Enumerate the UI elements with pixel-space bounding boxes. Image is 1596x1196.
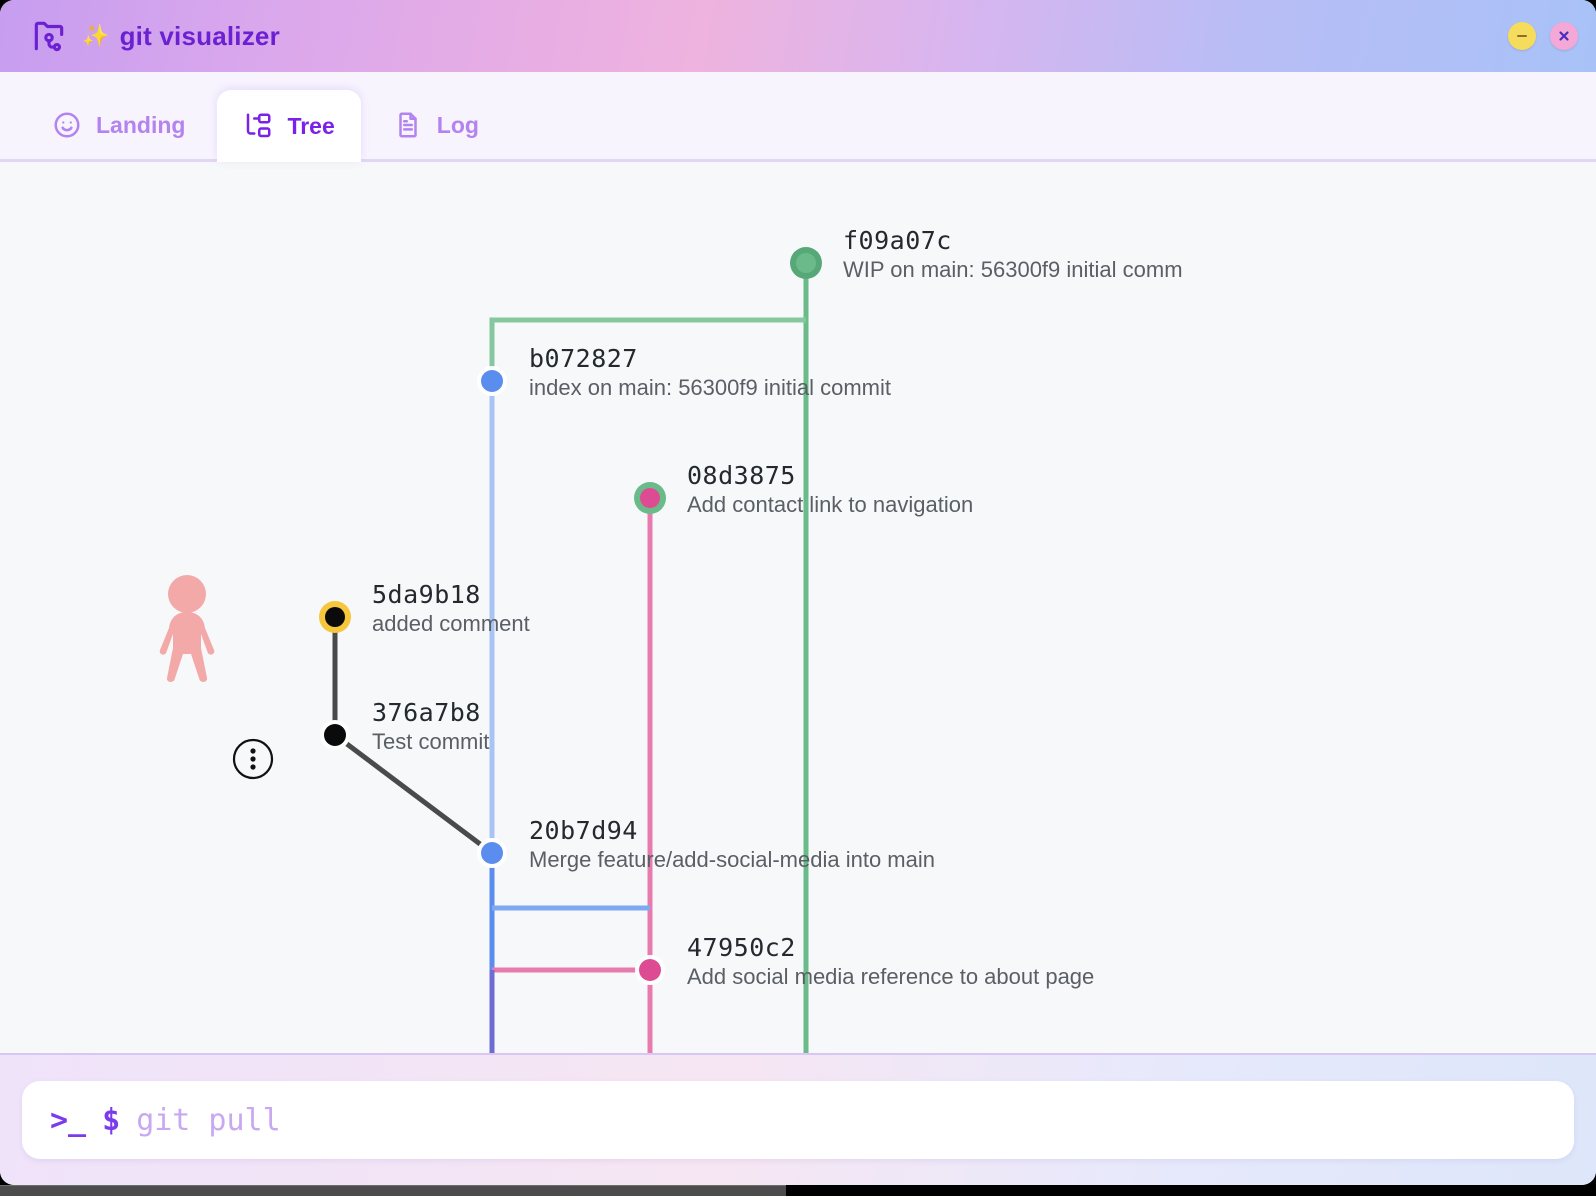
title-bar: ✨ git visualizer — [0, 0, 1596, 72]
commit-sha: b072827 — [529, 346, 891, 372]
tab-log-label: Log — [437, 112, 479, 139]
commit-message: Add social media reference to about page — [687, 961, 1094, 993]
commit-message: Merge feature/add-social-media into main — [529, 844, 935, 876]
commit-label[interactable]: f09a07cWIP on main: 56300f9 initial comm — [843, 228, 1183, 286]
git-folder-icon — [30, 17, 68, 55]
commit-sha: 47950c2 — [687, 935, 1094, 961]
commit-graph-canvas[interactable]: f09a07cWIP on main: 56300f9 initial comm… — [0, 162, 1596, 1054]
tab-landing[interactable]: Landing — [26, 94, 211, 156]
commit-label[interactable]: 20b7d94Merge feature/add-social-media in… — [529, 818, 935, 876]
commit-label-layer: f09a07cWIP on main: 56300f9 initial comm… — [0, 162, 1596, 1054]
sparkles-icon: ✨ — [82, 23, 110, 49]
commit-sha: 376a7b8 — [372, 700, 489, 726]
smiley-icon — [52, 110, 82, 140]
dollar-sign-icon: $ — [102, 1103, 120, 1138]
horizontal-scrollbar-thumb[interactable] — [0, 1185, 786, 1196]
close-button[interactable] — [1550, 22, 1578, 50]
commit-message: index on main: 56300f9 initial commit — [529, 372, 891, 404]
window-title: ✨ git visualizer — [82, 21, 280, 52]
tab-tree[interactable]: Tree — [217, 90, 360, 162]
tab-bar: Landing Tree — [0, 72, 1596, 162]
commit-label[interactable]: 5da9b18added comment — [372, 582, 530, 640]
window-controls — [1508, 22, 1578, 50]
commit-sha: 5da9b18 — [372, 582, 530, 608]
app-root: ✨ git visualizer — [0, 0, 1596, 1196]
close-icon — [1557, 29, 1571, 43]
terminal-bar: >_ $ — [0, 1053, 1596, 1185]
commit-label[interactable]: 47950c2Add social media reference to abo… — [687, 935, 1094, 993]
commit-sha: 20b7d94 — [529, 818, 935, 844]
tab-log[interactable]: Log — [367, 94, 505, 156]
prompt-caret-icon: >_ — [50, 1103, 86, 1138]
tree-structure-icon — [243, 111, 273, 141]
commit-sha: 08d3875 — [687, 463, 973, 489]
commit-label[interactable]: 08d3875Add contact link to navigation — [687, 463, 973, 521]
minimize-icon — [1515, 29, 1529, 43]
commit-message: Test commit — [372, 726, 489, 758]
title-bar-left: ✨ git visualizer — [30, 17, 280, 55]
commit-sha: f09a07c — [843, 228, 1183, 254]
commit-label[interactable]: 376a7b8Test commit — [372, 700, 489, 758]
commit-message: added comment — [372, 608, 530, 640]
terminal-input-wrapper[interactable]: >_ $ — [22, 1081, 1574, 1159]
commit-message: WIP on main: 56300f9 initial comm — [843, 254, 1183, 286]
command-input[interactable] — [136, 1103, 1546, 1138]
tab-landing-label: Landing — [96, 112, 185, 139]
tab-tree-label: Tree — [287, 113, 334, 140]
minimize-button[interactable] — [1508, 22, 1536, 50]
window-title-text: git visualizer — [120, 21, 280, 52]
document-icon — [393, 110, 423, 140]
horizontal-scrollbar-track[interactable] — [0, 1185, 1596, 1196]
commit-label[interactable]: b072827index on main: 56300f9 initial co… — [529, 346, 891, 404]
commit-message: Add contact link to navigation — [687, 489, 973, 521]
app-window: ✨ git visualizer — [0, 0, 1596, 1185]
